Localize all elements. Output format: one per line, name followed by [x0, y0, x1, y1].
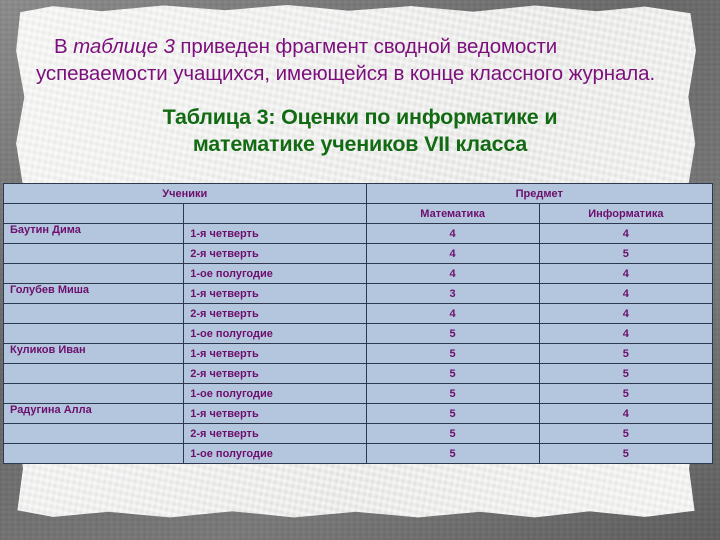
slide-canvas: В таблице 3 приведен фрагмент сводной ве… [0, 0, 720, 540]
table-row: 1-ое полугодие44 [4, 264, 713, 284]
cell-period: 1-я четверть [184, 404, 366, 424]
column-header-students: Ученики [4, 184, 367, 204]
intro-text-before: В [54, 35, 73, 58]
column-header-period-spacer [184, 204, 366, 224]
table-row: 1-ое полугодие54 [4, 324, 713, 344]
cell-period: 2-я четверть [184, 364, 366, 384]
cell-student-name [4, 444, 184, 464]
table-row: Куликов Иван1-я четверть55 [4, 344, 713, 364]
cell-grade-math: 5 [366, 324, 539, 344]
cell-grade-math: 5 [366, 344, 539, 364]
cell-student-name [4, 264, 184, 284]
cell-student-name [4, 244, 184, 264]
table-row: Голубев Миша1-я четверть34 [4, 284, 713, 304]
cell-grade-math: 5 [366, 424, 539, 444]
cell-student-name [4, 364, 184, 384]
cell-period: 1-ое полугодие [184, 324, 366, 344]
column-header-subject: Предмет [366, 184, 713, 204]
cell-student-name [4, 304, 184, 324]
cell-grade-informatics: 4 [539, 404, 712, 424]
column-header-math: Математика [366, 204, 539, 224]
cell-grade-math: 5 [366, 444, 539, 464]
cell-grade-informatics: 5 [539, 364, 712, 384]
cell-grade-informatics: 4 [539, 304, 712, 324]
cell-grade-informatics: 4 [539, 224, 712, 244]
cell-grade-informatics: 4 [539, 324, 712, 344]
page-title-line-2: математике учеников VII класса [60, 131, 660, 158]
cell-student-name [4, 384, 184, 404]
table-row: 2-я четверть55 [4, 424, 713, 444]
cell-period: 1-ое полугодие [184, 264, 366, 284]
cell-period: 1-ое полугодие [184, 384, 366, 404]
cell-period: 1-я четверть [184, 284, 366, 304]
cell-grade-math: 3 [366, 284, 539, 304]
cell-period: 1-ое полугодие [184, 444, 366, 464]
cell-grade-math: 5 [366, 404, 539, 424]
cell-grade-math: 4 [366, 224, 539, 244]
cell-grade-informatics: 4 [539, 264, 712, 284]
table-row: Радугина Алла1-я четверть54 [4, 404, 713, 424]
table-header-row-sub: Математика Информатика [4, 204, 713, 224]
cell-grade-math: 4 [366, 304, 539, 324]
cell-grade-math: 5 [366, 384, 539, 404]
grades-table: Ученики Предмет Математика Информатика Б… [3, 183, 713, 464]
column-header-students-spacer [4, 204, 184, 224]
cell-period: 1-я четверть [184, 344, 366, 364]
table-row: 2-я четверть44 [4, 304, 713, 324]
cell-grade-math: 5 [366, 364, 539, 384]
cell-period: 2-я четверть [184, 304, 366, 324]
table-row: 2-я четверть55 [4, 364, 713, 384]
page-title-line-1: Таблица 3: Оценки по информатике и [60, 104, 660, 131]
cell-period: 2-я четверть [184, 244, 366, 264]
cell-grade-math: 4 [366, 244, 539, 264]
cell-grade-informatics: 5 [539, 344, 712, 364]
cell-student-name [4, 424, 184, 444]
cell-grade-math: 4 [366, 264, 539, 284]
cell-period: 2-я четверть [184, 424, 366, 444]
cell-period: 1-я четверть [184, 224, 366, 244]
cell-grade-informatics: 5 [539, 444, 712, 464]
cell-grade-informatics: 5 [539, 384, 712, 404]
table-header: Ученики Предмет Математика Информатика [4, 184, 713, 224]
table-row: 1-ое полугодие55 [4, 384, 713, 404]
table-header-row-top: Ученики Предмет [4, 184, 713, 204]
table-body: Баутин Дима1-я четверть442-я четверть451… [4, 224, 713, 464]
intro-paragraph: В таблице 3 приведен фрагмент сводной ве… [36, 33, 658, 87]
cell-grade-informatics: 4 [539, 284, 712, 304]
cell-student-name: Куликов Иван [4, 344, 184, 364]
table-row: 2-я четверть45 [4, 244, 713, 264]
cell-student-name: Голубев Миша [4, 284, 184, 304]
cell-student-name: Баутин Дима [4, 224, 184, 244]
table-row: Баутин Дима1-я четверть44 [4, 224, 713, 244]
page-title: Таблица 3: Оценки по информатике и матем… [60, 104, 660, 158]
cell-student-name: Радугина Алла [4, 404, 184, 424]
column-header-informatics: Информатика [539, 204, 712, 224]
cell-grade-informatics: 5 [539, 244, 712, 264]
cell-grade-informatics: 5 [539, 424, 712, 444]
intro-text-italic: таблице 3 [73, 35, 175, 58]
cell-student-name [4, 324, 184, 344]
table-row: 1-ое полугодие55 [4, 444, 713, 464]
